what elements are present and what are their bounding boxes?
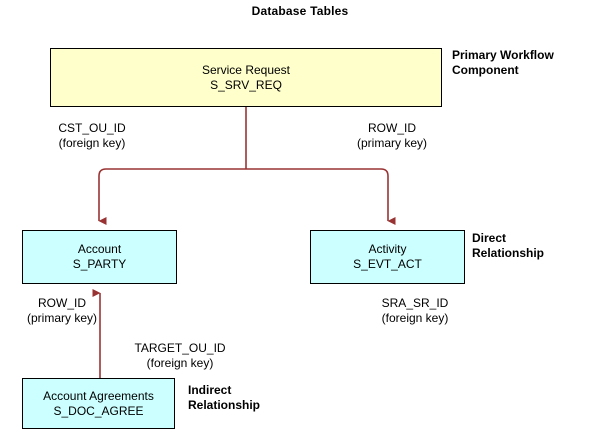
key-column-name: TARGET_OU_ID <box>105 341 255 356</box>
key-type: (foreign key) <box>22 136 162 151</box>
entity-table: S_SRV_REQ <box>210 78 282 93</box>
label-primary-workflow-line1: Primary Workflow <box>452 48 554 63</box>
entity-name: Activity <box>368 242 406 257</box>
label-indirect-relationship: Indirect Relationship <box>188 383 260 413</box>
key-type: (primary key) <box>322 136 462 151</box>
label-direct-relationship: Direct Relationship <box>472 231 544 261</box>
key-column-name: CST_OU_ID <box>22 121 162 136</box>
label-primary-workflow-line2: Component <box>452 63 554 78</box>
key-type: (foreign key) <box>105 356 255 371</box>
entity-activity[interactable]: Activity S_EVT_ACT <box>310 230 465 284</box>
entity-name: Account <box>78 242 121 257</box>
key-column-name: ROW_ID <box>322 121 462 136</box>
key-label-target-ou-id: TARGET_OU_ID (foreign key) <box>105 341 255 371</box>
entity-name: Service Request <box>202 63 290 78</box>
key-label-cst-ou-id: CST_OU_ID (foreign key) <box>22 121 162 151</box>
entity-account[interactable]: Account S_PARTY <box>22 230 177 284</box>
entity-table: S_DOC_AGREE <box>53 404 143 419</box>
key-label-sra-sr-id: SRA_SR_ID (foreign key) <box>340 296 490 326</box>
key-column-name: ROW_ID <box>2 296 122 311</box>
key-type: (primary key) <box>2 311 122 326</box>
diagram-canvas: Database Tables Service Request S_SRV_RE… <box>0 0 600 440</box>
label-direct-line2: Relationship <box>472 246 544 261</box>
page-title: Database Tables <box>0 4 600 18</box>
label-primary-workflow-component: Primary Workflow Component <box>452 48 554 78</box>
key-label-row-id-account: ROW_ID (primary key) <box>2 296 122 326</box>
entity-account-agreements[interactable]: Account Agreements S_DOC_AGREE <box>22 378 175 429</box>
label-indirect-line2: Relationship <box>188 398 260 413</box>
label-indirect-line1: Indirect <box>188 383 260 398</box>
key-label-row-id-primary: ROW_ID (primary key) <box>322 121 462 151</box>
entity-table: S_EVT_ACT <box>353 257 422 272</box>
label-direct-line1: Direct <box>472 231 544 246</box>
key-type: (foreign key) <box>340 311 490 326</box>
entity-name: Account Agreements <box>43 389 154 404</box>
entity-service-request[interactable]: Service Request S_SRV_REQ <box>50 48 442 107</box>
connector-to-account <box>99 169 246 221</box>
entity-table: S_PARTY <box>73 257 127 272</box>
connector-to-activity <box>246 169 388 221</box>
key-column-name: SRA_SR_ID <box>340 296 490 311</box>
